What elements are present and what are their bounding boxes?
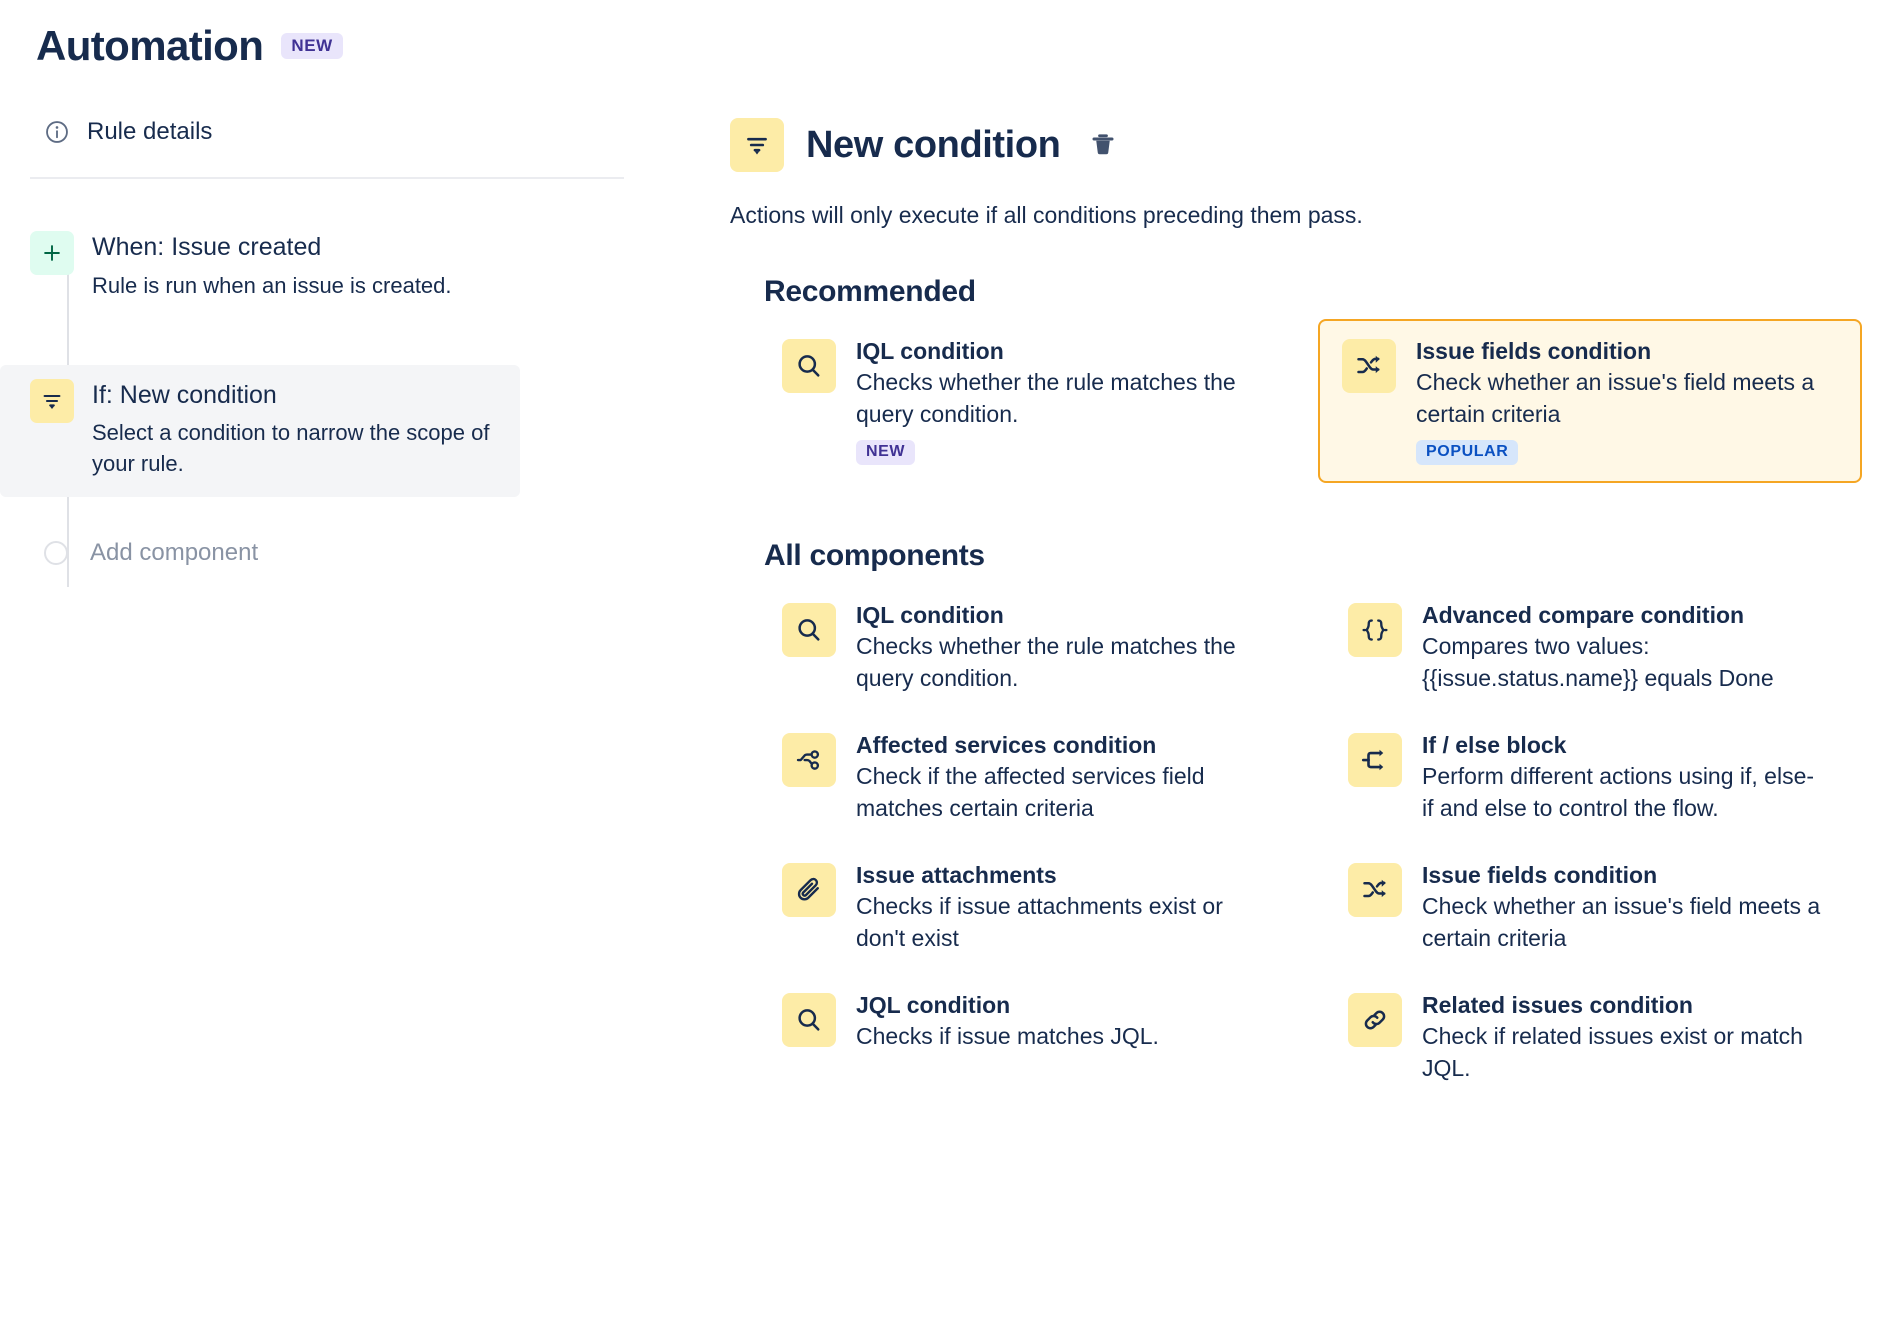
search-icon <box>782 993 836 1047</box>
trash-icon[interactable] <box>1086 128 1120 162</box>
component-card-advanced-compare-condition[interactable]: Advanced compare condition Compares two … <box>1296 583 1862 713</box>
panel-subtitle: Actions will only execute if all conditi… <box>730 201 1862 231</box>
page-title: Automation <box>36 22 263 70</box>
flow-item-desc: Rule is run when an issue is created. <box>92 271 452 301</box>
flow-item-trigger[interactable]: When: Issue created Rule is run when an … <box>0 217 660 319</box>
component-card-issue-fields-condition-recommended[interactable]: Issue fields condition Check whether an … <box>1318 319 1862 483</box>
component-card-if-else-block[interactable]: If / else block Perform different action… <box>1296 713 1862 843</box>
component-card-desc: Check whether an issue's field meets a c… <box>1422 891 1822 954</box>
component-card-desc: Checks whether the rule matches the quer… <box>856 631 1256 694</box>
component-picker-panel: New condition Actions will only execute … <box>712 0 1892 1344</box>
flow-item-title: When: Issue created <box>92 232 452 263</box>
flow-item-condition[interactable]: If: New condition Select a condition to … <box>0 365 520 497</box>
component-card-desc: Checks if issue attachments exist or don… <box>856 891 1256 954</box>
recommended-heading: Recommended <box>764 275 1862 309</box>
panel-header: New condition <box>730 118 1862 172</box>
panel-title: New condition <box>806 126 1060 164</box>
component-card-iql-condition[interactable]: IQL condition Checks whether the rule ma… <box>730 583 1296 713</box>
rule-details-label: Rule details <box>87 118 212 146</box>
status-badge: POPULAR <box>1416 440 1518 465</box>
paperclip-icon <box>782 863 836 917</box>
shuffle-icon <box>1348 863 1402 917</box>
add-component-label: Add component <box>90 539 258 567</box>
component-card-affected-services-condition[interactable]: Affected services condition Check if the… <box>730 713 1296 843</box>
circle-outline-icon <box>44 541 68 565</box>
component-card-title: Issue attachments <box>856 861 1256 890</box>
search-icon <box>782 339 836 393</box>
filter-icon <box>730 118 784 172</box>
component-card-title: Issue fields condition <box>1416 337 1816 366</box>
component-card-desc: Check if the affected services field mat… <box>856 761 1256 824</box>
component-card-desc: Check if related issues exist or match J… <box>1422 1021 1822 1084</box>
component-card-desc: Checks if issue matches JQL. <box>856 1021 1159 1053</box>
page-title-badge: NEW <box>281 33 342 59</box>
component-card-desc: Check whether an issue's field meets a c… <box>1416 367 1816 430</box>
if-else-icon <box>1348 733 1402 787</box>
component-card-iql-condition[interactable]: IQL condition Checks whether the rule ma… <box>730 319 1296 483</box>
component-card-issue-fields-condition[interactable]: Issue fields condition Check whether an … <box>1296 843 1862 973</box>
recommended-grid: IQL condition Checks whether the rule ma… <box>730 319 1862 483</box>
all-components-heading: All components <box>764 539 1862 573</box>
flow-item-title: If: New condition <box>92 380 498 411</box>
affected-services-icon <box>782 733 836 787</box>
component-card-issue-attachments[interactable]: Issue attachments Checks if issue attach… <box>730 843 1296 973</box>
plus-icon <box>30 231 74 275</box>
component-card-desc: Compares two values: {{issue.status.name… <box>1422 631 1822 694</box>
flow-spacer <box>0 319 660 365</box>
component-card-badge-row: NEW <box>856 440 1256 465</box>
status-badge: NEW <box>856 440 915 465</box>
page-header: Automation NEW <box>0 0 660 70</box>
component-card-desc: Perform different actions using if, else… <box>1422 761 1822 824</box>
component-card-badge-row: POPULAR <box>1416 440 1816 465</box>
braces-icon <box>1348 603 1402 657</box>
search-icon <box>782 603 836 657</box>
shuffle-icon <box>1342 339 1396 393</box>
flow-item-desc: Select a condition to narrow the scope o… <box>92 418 498 479</box>
rule-flow: When: Issue created Rule is run when an … <box>0 217 660 587</box>
sidebar-divider <box>30 177 624 179</box>
component-card-title: JQL condition <box>856 991 1159 1020</box>
info-icon <box>44 119 70 145</box>
component-card-title: Affected services condition <box>856 731 1256 760</box>
rule-builder-sidebar: Automation NEW Rule details When: Issue … <box>0 0 660 1344</box>
link-icon <box>1348 993 1402 1047</box>
component-card-title: IQL condition <box>856 337 1256 366</box>
component-card-title: If / else block <box>1422 731 1822 760</box>
rule-details-nav-item[interactable]: Rule details <box>44 118 660 146</box>
component-card-title: IQL condition <box>856 601 1256 630</box>
filter-icon <box>30 379 74 423</box>
component-card-title: Advanced compare condition <box>1422 601 1822 630</box>
all-components-grid: IQL condition Checks whether the rule ma… <box>730 583 1862 1103</box>
component-card-related-issues-condition[interactable]: Related issues condition Check if relate… <box>1296 973 1862 1103</box>
component-card-jql-condition[interactable]: JQL condition Checks if issue matches JQ… <box>730 973 1296 1103</box>
add-component-button[interactable]: Add component <box>0 539 660 567</box>
component-card-title: Issue fields condition <box>1422 861 1822 890</box>
component-card-title: Related issues condition <box>1422 991 1822 1020</box>
component-card-desc: Checks whether the rule matches the quer… <box>856 367 1256 430</box>
